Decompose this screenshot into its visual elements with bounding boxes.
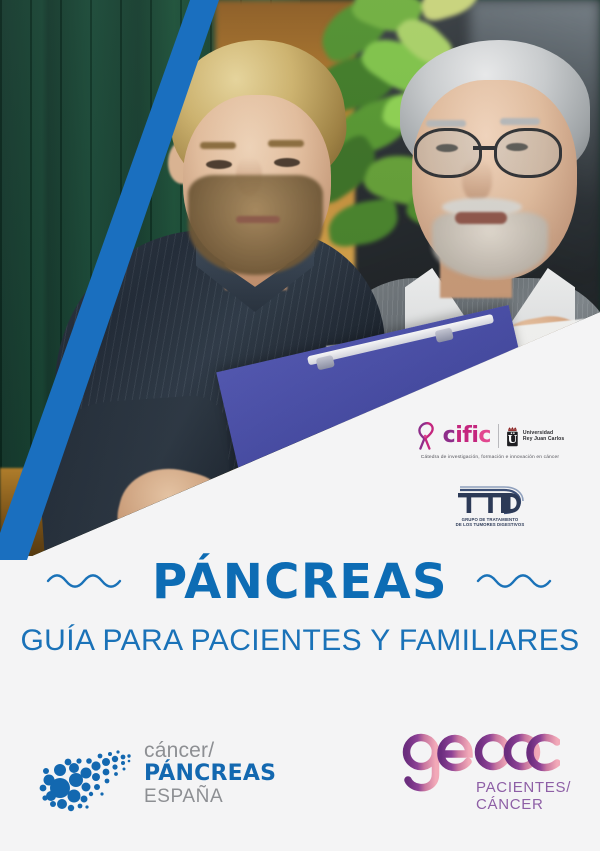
urjc-logo: Ü Universidad Rey Juan Carlos	[506, 426, 564, 447]
cific-divider	[498, 424, 499, 448]
cpe-line-espana: ESPAÑA	[144, 786, 268, 807]
cancer-pancreas-espana-text: cáncer/ PÁNCREAS ESPAÑA	[144, 740, 268, 807]
cific-tagline: Cátedra de investigación, formación e in…	[404, 455, 576, 460]
urjc-name: Universidad Rey Juan Carlos	[523, 430, 564, 443]
urjc-name-line1: Universidad	[523, 430, 553, 436]
gepac-logo: PACIENTES/ CÁNCER	[398, 730, 568, 822]
awareness-ribbon-icon	[416, 422, 436, 450]
ttd-tagline-line1: GRUPO DE TRATAMIENTO	[462, 517, 519, 522]
ttd-wordmark	[454, 484, 526, 515]
title-row: PÁNCREAS	[0, 554, 600, 610]
urjc-name-line2: Rey Juan Carlos	[523, 436, 564, 442]
pancreas-dots-icon	[38, 742, 134, 814]
brochure-cover: cific Ü Universidad Rey Juan Carlos Cáte…	[0, 0, 600, 851]
cover-photo	[0, 0, 600, 560]
wave-ornament-left-icon	[46, 572, 124, 593]
gepac-subtitle: PACIENTES/ CÁNCER	[476, 780, 571, 813]
gepac-subtitle-line1: PACIENTES/	[476, 780, 571, 797]
urjc-crest-icon: Ü	[506, 426, 519, 447]
svg-text:Ü: Ü	[508, 432, 518, 446]
cific-wordmark: cific	[443, 425, 491, 447]
ttd-logo: GRUPO DE TRATAMIENTO DE LOS TUMORES DIGE…	[440, 484, 540, 528]
photo-canvas	[0, 0, 600, 560]
photo-tone-overlay	[0, 0, 600, 560]
cific-logo: cific Ü Universidad Rey Juan Carlos Cáte…	[404, 421, 576, 460]
ttd-tagline: GRUPO DE TRATAMIENTO DE LOS TUMORES DIGE…	[440, 517, 540, 528]
ttd-tagline-line2: DE LOS TUMORES DIGESTIVOS	[456, 522, 525, 527]
cific-logo-row: cific Ü Universidad Rey Juan Carlos	[404, 421, 576, 451]
page-subtitle: GUÍA PARA PACIENTES Y FAMILIARES	[0, 626, 600, 656]
page-title: PÁNCREAS	[152, 558, 448, 606]
cpe-line-pancreas: PÁNCREAS	[144, 762, 268, 786]
wave-ornament-right-icon	[476, 572, 554, 593]
cpe-line-cancer: cáncer/	[144, 740, 268, 762]
cancer-pancreas-espana-logo: cáncer/ PÁNCREAS ESPAÑA	[38, 738, 268, 820]
gepac-subtitle-line2: CÁNCER	[476, 797, 571, 814]
